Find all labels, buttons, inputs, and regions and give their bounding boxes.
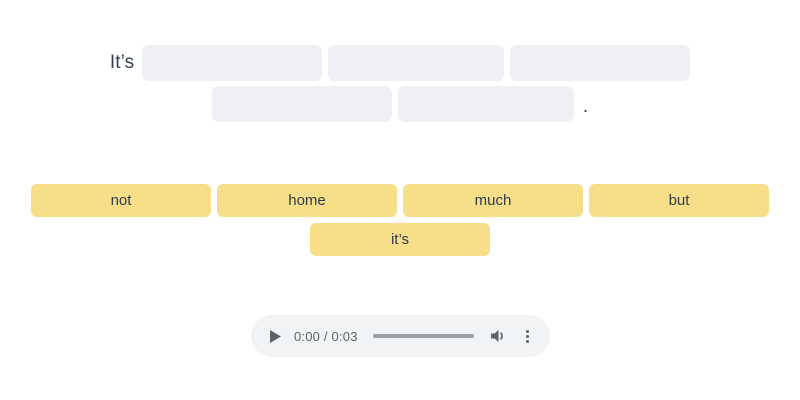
word-tile-but[interactable]: but bbox=[589, 184, 769, 217]
sentence-row-1: It’s bbox=[0, 45, 800, 81]
audio-progress-track bbox=[373, 334, 474, 338]
blank-slot-1[interactable] bbox=[142, 45, 322, 81]
volume-icon[interactable] bbox=[489, 327, 509, 345]
audio-player[interactable]: 0:00 / 0:03 bbox=[251, 315, 550, 357]
word-tile-not[interactable]: not bbox=[31, 184, 211, 217]
word-bank: not home much but it’s bbox=[0, 184, 800, 262]
word-bank-row-1: not home much but bbox=[0, 184, 800, 217]
word-tile-its[interactable]: it’s bbox=[310, 223, 490, 256]
word-tile-home[interactable]: home bbox=[217, 184, 397, 217]
menu-dot-2 bbox=[526, 335, 529, 338]
more-vertical-icon[interactable] bbox=[520, 327, 534, 345]
sentence-row-2: . bbox=[0, 86, 800, 122]
play-icon[interactable] bbox=[267, 328, 283, 344]
audio-time-display: 0:00 / 0:03 bbox=[294, 329, 358, 344]
blank-slot-5[interactable] bbox=[398, 86, 574, 122]
sentence-prefix: It’s bbox=[110, 52, 136, 74]
blank-slot-4[interactable] bbox=[212, 86, 392, 122]
audio-progress-slider[interactable] bbox=[369, 334, 478, 338]
sentence-with-blanks: It’s . bbox=[0, 45, 800, 127]
menu-dot-1 bbox=[526, 330, 529, 333]
word-tile-much[interactable]: much bbox=[403, 184, 583, 217]
word-bank-row-2: it’s bbox=[0, 223, 800, 256]
sentence-terminator: . bbox=[580, 97, 588, 122]
menu-dot-3 bbox=[526, 340, 529, 343]
blank-slot-2[interactable] bbox=[328, 45, 504, 81]
blank-slot-3[interactable] bbox=[510, 45, 690, 81]
